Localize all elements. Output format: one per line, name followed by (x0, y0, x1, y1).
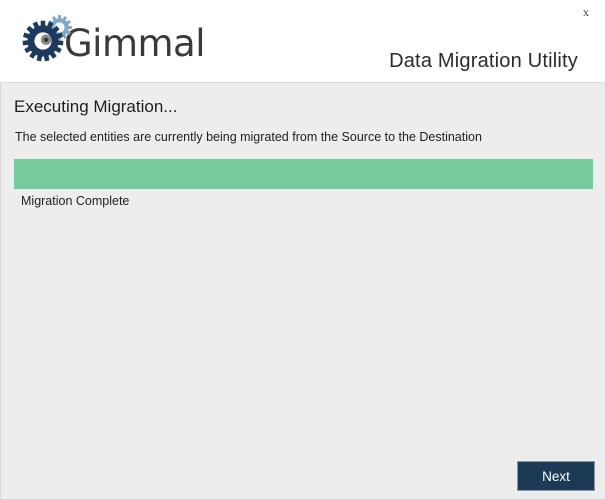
progress-status-text: Migration Complete (21, 194, 129, 208)
close-icon[interactable]: x (577, 3, 595, 21)
step-description: The selected entities are currently bein… (15, 130, 482, 144)
window-header: x (0, 0, 606, 83)
brand-logo: Gimmal (22, 8, 205, 64)
migration-progress-bar (14, 159, 593, 189)
main-content-panel: Executing Migration... The selected enti… (0, 83, 606, 500)
page-title: Data Migration Utility (389, 50, 578, 73)
brand-wordmark: Gimmal (64, 25, 205, 62)
next-button[interactable]: Next (517, 461, 595, 491)
gimmal-gears-logo-icon (22, 14, 78, 64)
progress-bar-fill (14, 159, 593, 189)
step-heading: Executing Migration... (14, 97, 177, 117)
data-migration-utility-window: x (0, 0, 606, 500)
